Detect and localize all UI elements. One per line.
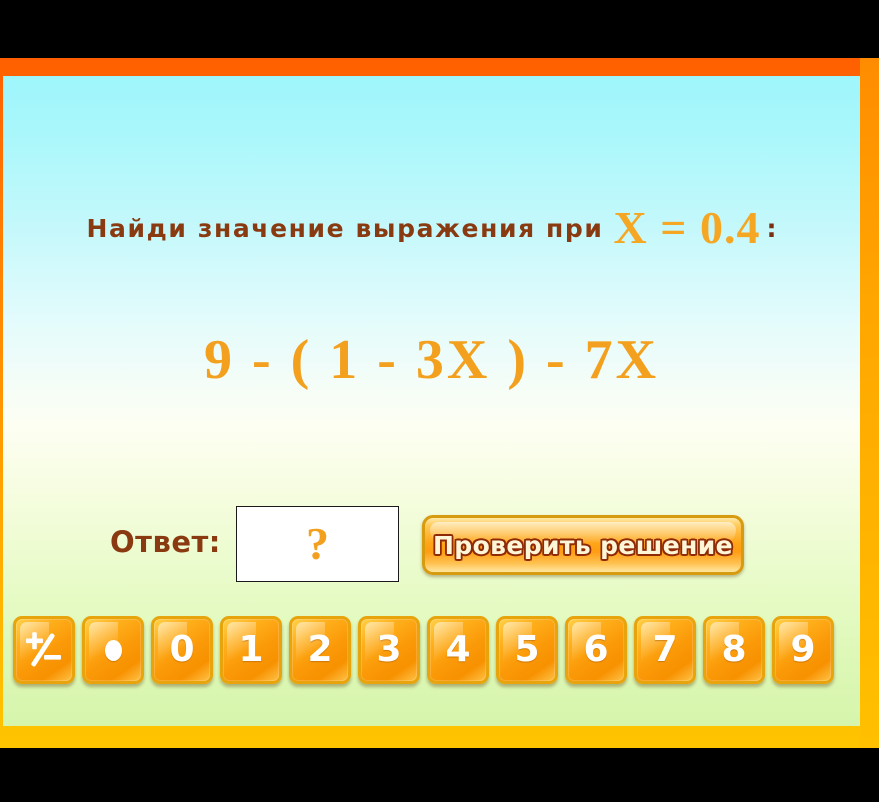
keypad-key-label: 4: [445, 632, 470, 668]
check-solution-label: Проверить решение: [433, 531, 733, 560]
keypad-key-six[interactable]: 6: [565, 616, 627, 684]
prompt-variable-value: X = 0.4: [614, 202, 761, 253]
keypad-key-label: 9: [790, 632, 815, 668]
keypad-key-dot[interactable]: [82, 616, 144, 684]
keypad-key-seven[interactable]: 7: [634, 616, 696, 684]
decimal-point-icon: [105, 640, 122, 661]
keypad-key-five[interactable]: 5: [496, 616, 558, 684]
keypad-key-label: 3: [376, 632, 401, 668]
keypad-key-one[interactable]: 1: [220, 616, 282, 684]
keypad-key-label: 8: [721, 632, 746, 668]
slide-frame-border-right: [860, 58, 879, 748]
keypad-key-label: 0: [169, 632, 194, 668]
keypad-key-label: 7: [652, 632, 677, 668]
keypad-key-four[interactable]: 4: [427, 616, 489, 684]
keypad-key-label: 2: [307, 632, 332, 668]
keypad-key-zero[interactable]: 0: [151, 616, 213, 684]
plus-minus-icon: [22, 628, 66, 672]
keypad-key-nine[interactable]: 9: [772, 616, 834, 684]
math-expression: 9 - ( 1 - 3X ) - 7X: [3, 328, 860, 392]
keypad-key-three[interactable]: 3: [358, 616, 420, 684]
keypad-key-label: 6: [583, 632, 608, 668]
check-solution-button[interactable]: Проверить решение: [422, 515, 744, 575]
question-prompt: Найди значение выражения приX = 0.4:: [3, 201, 860, 254]
answer-row: Ответ: ? Проверить решение: [3, 501, 860, 591]
answer-label: Ответ:: [110, 525, 221, 559]
slide-stage: Найди значение выражения приX = 0.4: 9 -…: [0, 0, 879, 802]
keypad-key-two[interactable]: 2: [289, 616, 351, 684]
keypad-key-sign[interactable]: [13, 616, 75, 684]
slide-content: Найди значение выражения приX = 0.4: 9 -…: [3, 76, 860, 726]
answer-value: ?: [306, 521, 329, 567]
numeric-keypad: 0123456789: [13, 616, 834, 684]
prompt-colon: :: [766, 214, 776, 243]
keypad-key-label: 5: [514, 632, 539, 668]
keypad-key-eight[interactable]: 8: [703, 616, 765, 684]
keypad-key-label: 1: [238, 632, 263, 668]
prompt-text: Найди значение выражения при: [87, 214, 604, 243]
answer-input-box[interactable]: ?: [236, 506, 399, 582]
